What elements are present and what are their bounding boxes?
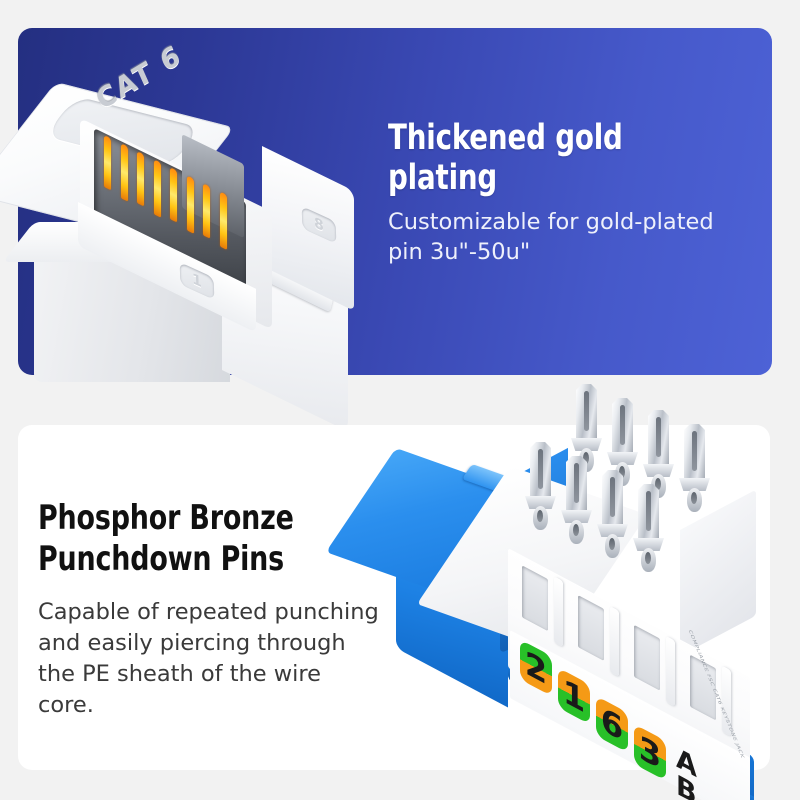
pin-idc-slot (692, 431, 697, 471)
pin-idc-slot (538, 449, 543, 489)
punchdown-pin (638, 484, 659, 570)
punchdown-title: Phosphor Bronze Punchdown Pins (38, 498, 372, 580)
idc-rib (554, 576, 563, 647)
punchdown-pin (566, 456, 587, 542)
pin-idc-slot (610, 477, 615, 517)
pin-idc-slot (620, 405, 625, 445)
gold-contact-pin (220, 191, 227, 249)
gold-contact-pin (104, 135, 111, 190)
pin-idc-slot (574, 463, 579, 503)
idc-rib (666, 636, 675, 707)
pin-idc-slot (646, 491, 651, 531)
punchdown-pin (530, 442, 551, 528)
gold-contact-pin (170, 167, 177, 222)
punchdown-pin (684, 424, 705, 510)
pin-eyelet (645, 552, 651, 564)
gold-contact-pin (154, 159, 161, 217)
punchdown-pin (602, 470, 623, 556)
gold-contact-pin (121, 143, 128, 201)
idc-slot (578, 595, 604, 661)
wiring-number-badge: 3 (634, 724, 666, 781)
wiring-number-badge: 1 (558, 668, 590, 725)
gold-contact-pin (203, 183, 210, 238)
gold-plating-title: Thickened gold plating (388, 118, 740, 198)
gold-contact-pin (187, 175, 194, 233)
gold-plating-subtitle: Customizable for gold-plated pin 3u"-50u… (388, 207, 738, 267)
idc-rib (610, 606, 619, 677)
cat6-keystone-jack-image: CAT 6 1 8 (22, 82, 352, 382)
punchdown-subtitle: Capable of repeated punching and easily … (38, 597, 383, 721)
idc-slot (634, 625, 660, 691)
pin-eyelet (537, 510, 543, 522)
pin-eyelet (573, 524, 579, 536)
wiring-number-badge: 6 (596, 696, 628, 753)
punchdown-keystone-jack-image: 2163AB COMPLIANCE FSC CAT6 KEYSTONE JACK (380, 380, 800, 780)
pin-eyelet (691, 492, 697, 504)
punchdown-title-line1: Phosphor Bronze (38, 498, 372, 539)
pin-idc-slot (656, 417, 661, 457)
gold-plating-text-block: Thickened gold plating Customizable for … (388, 118, 788, 267)
pin-idc-slot (584, 391, 589, 431)
idc-slot (522, 565, 548, 631)
gold-contact-pin (137, 151, 144, 206)
punchdown-title-line2: Punchdown Pins (38, 539, 372, 580)
pin-eyelet (609, 538, 615, 550)
